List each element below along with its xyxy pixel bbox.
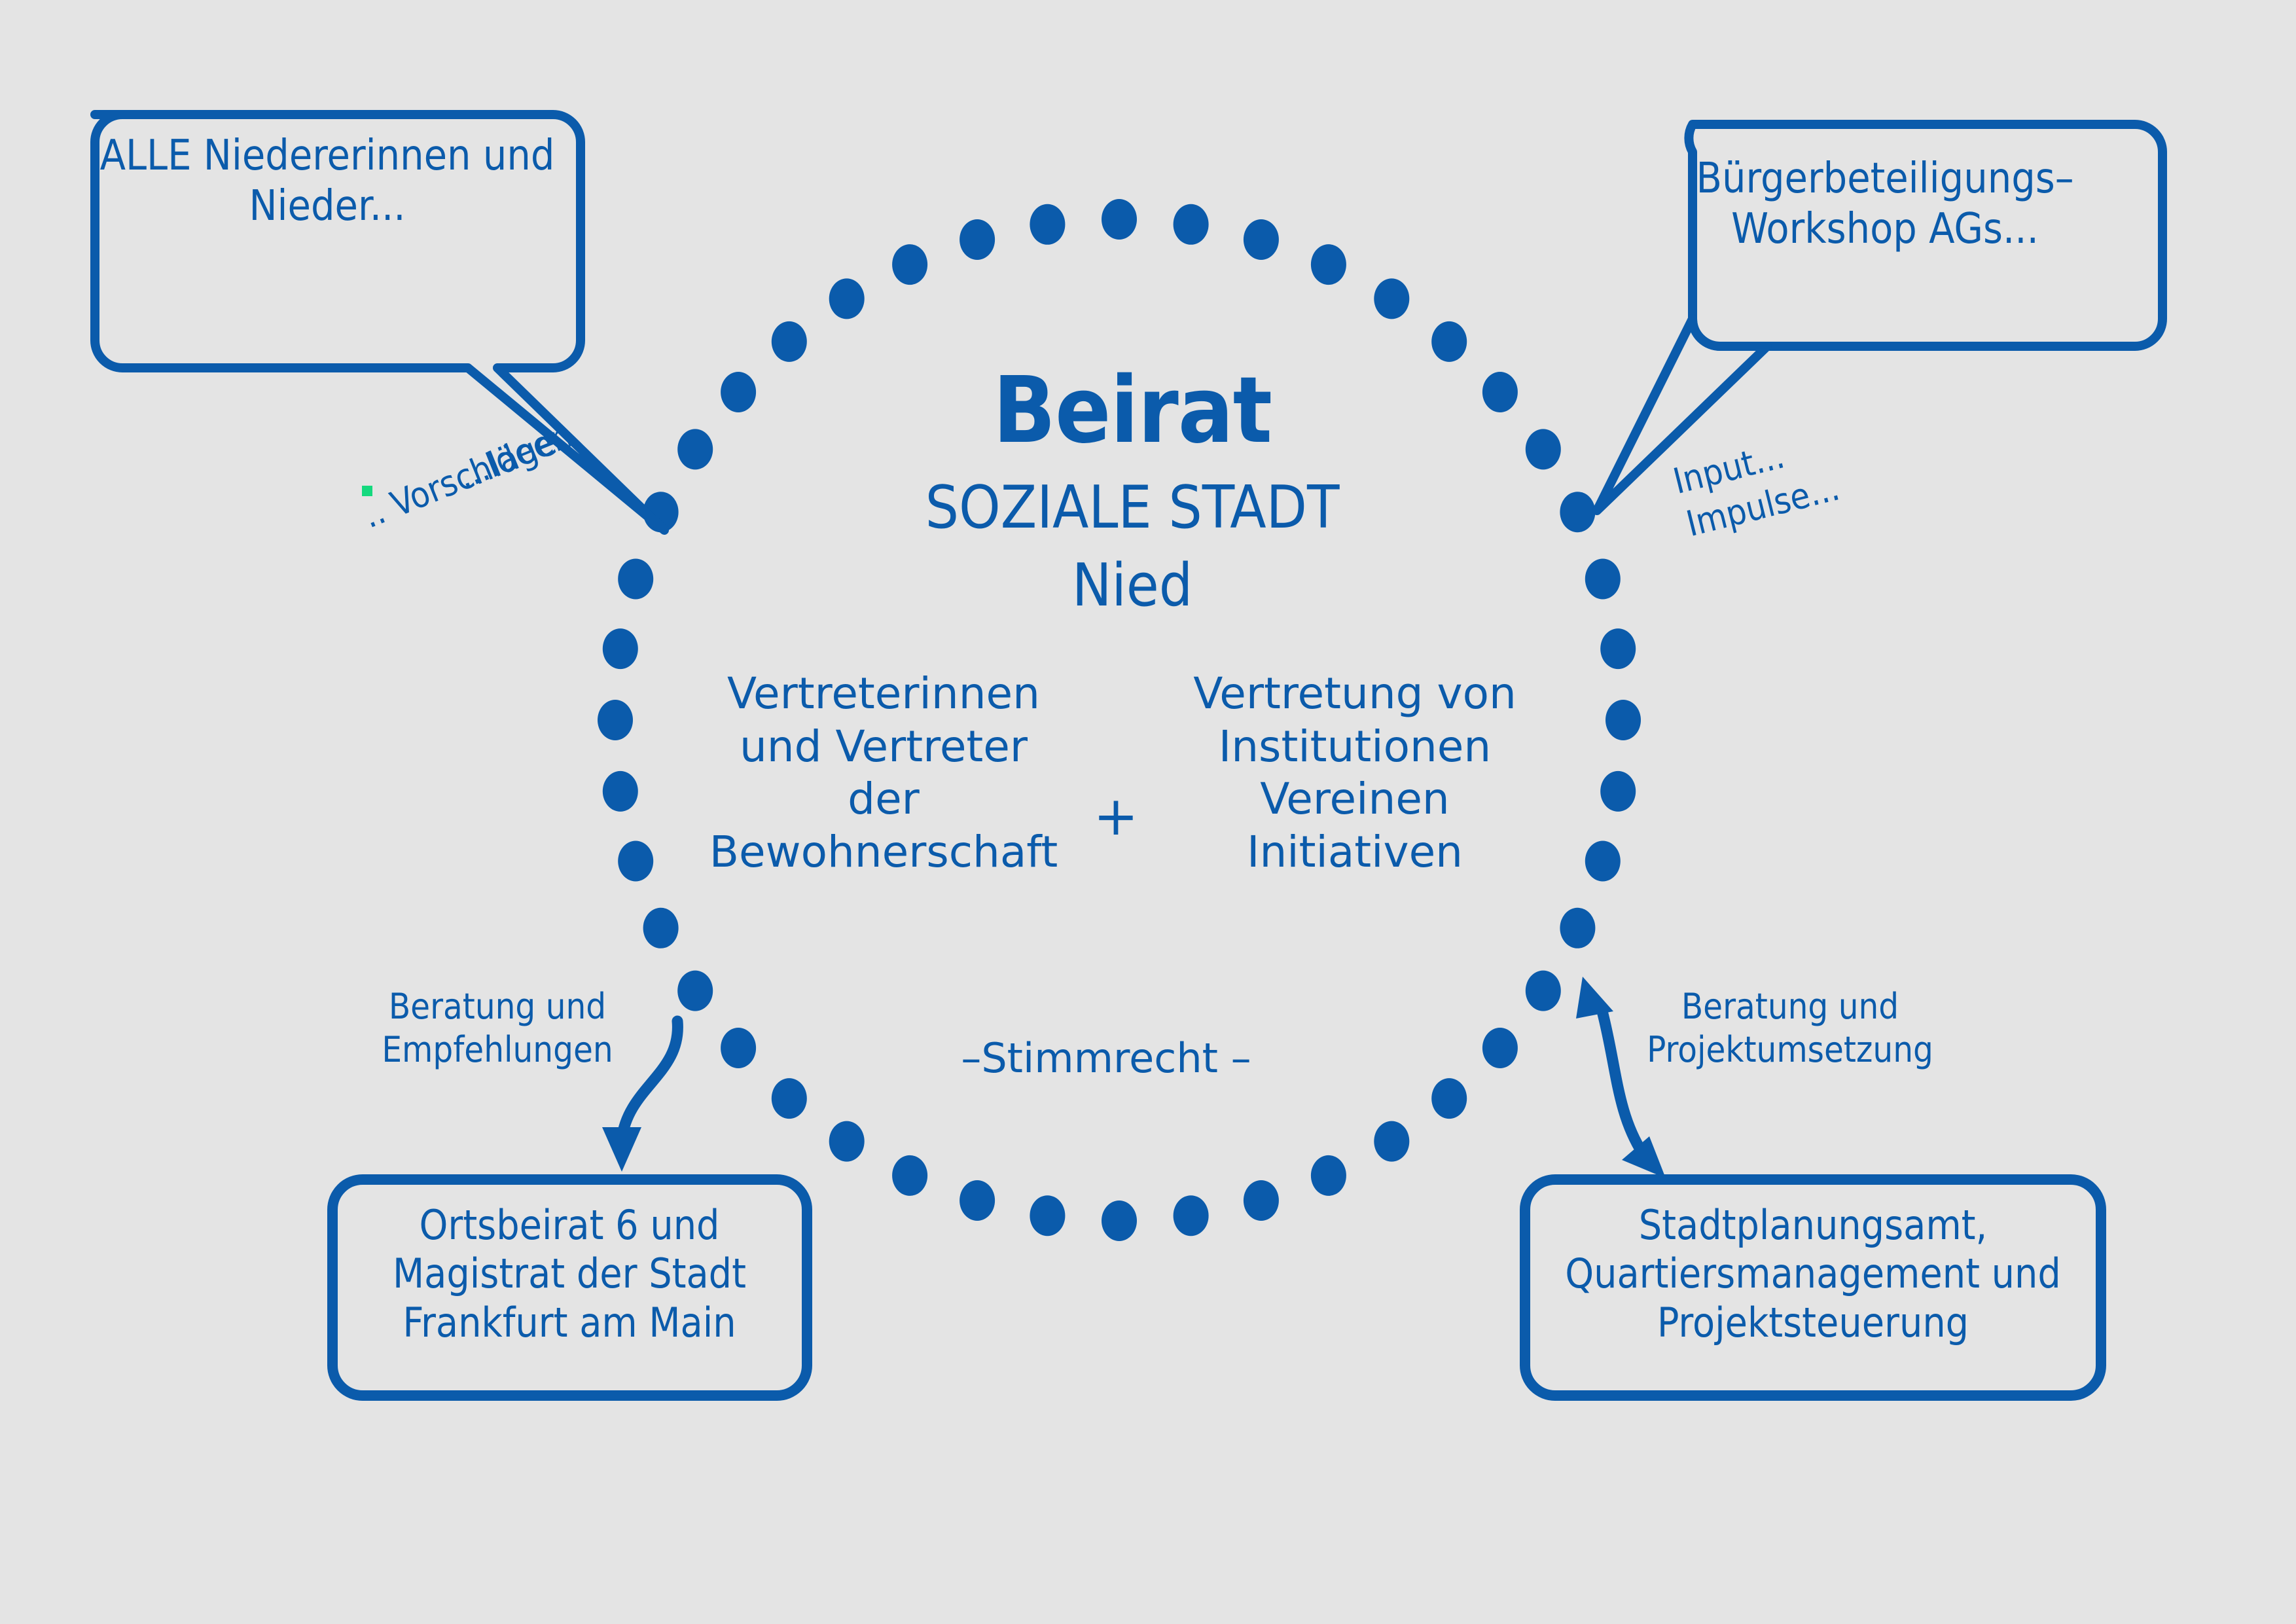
circle-dot bbox=[618, 559, 653, 600]
box-bottom-left-label: Ortsbeirat 6 und Magistrat der Stadt Fra… bbox=[340, 1201, 798, 1347]
circle-dot bbox=[1311, 1155, 1346, 1196]
circle-dot bbox=[1526, 429, 1561, 469]
box-bottom-right-label: Stadtplanungsamt, Quartiersmanagement un… bbox=[1538, 1201, 2088, 1347]
plus-sign: + bbox=[1083, 785, 1149, 848]
circle-dot bbox=[598, 700, 633, 740]
circle-dot bbox=[1030, 204, 1065, 245]
circle-dot bbox=[721, 1028, 756, 1068]
circle-dot bbox=[1585, 841, 1621, 882]
circle-dot bbox=[1374, 278, 1409, 319]
circle-dot bbox=[1600, 771, 1636, 812]
circle-dot bbox=[603, 628, 638, 669]
circle-dot bbox=[1600, 628, 1636, 669]
circle-dot bbox=[1244, 219, 1279, 260]
circle-dot bbox=[1244, 1180, 1279, 1221]
circle-dot bbox=[829, 278, 865, 319]
circle-dot bbox=[618, 841, 653, 882]
circle-dot bbox=[1374, 1121, 1409, 1162]
circle-dot bbox=[892, 244, 927, 285]
circle-dot bbox=[1311, 244, 1346, 285]
circle-dot bbox=[677, 971, 713, 1011]
circle-dot bbox=[1431, 1078, 1467, 1119]
bubble-top-left-label: ALLE Niedererinnen und Nieder... bbox=[98, 131, 556, 232]
circle-dot bbox=[1585, 559, 1621, 600]
circle-dot bbox=[643, 908, 679, 948]
circle-dot bbox=[677, 429, 713, 469]
circle-dot bbox=[1174, 204, 1209, 245]
circle-dot bbox=[1102, 199, 1137, 240]
circle-dot bbox=[1560, 908, 1595, 948]
circle-dot bbox=[960, 219, 995, 260]
circle-dot bbox=[1560, 492, 1595, 532]
circle-dot bbox=[892, 1155, 927, 1196]
circle-dot bbox=[603, 771, 638, 812]
circle-dot bbox=[1102, 1200, 1137, 1241]
circle-dot bbox=[1605, 700, 1641, 740]
circle-dot bbox=[960, 1180, 995, 1221]
center-subtitle: SOZIALE STADT bbox=[772, 475, 1492, 541]
circle-dot bbox=[1030, 1195, 1065, 1236]
circle-dot bbox=[1526, 971, 1561, 1011]
center-column-right: Vertretung von Institutionen Vereinen In… bbox=[1191, 668, 1518, 878]
diagram-canvas: ALLE Niedererinnen und Nieder... Bürgerb… bbox=[0, 0, 2296, 1624]
circle-dot bbox=[1482, 1028, 1518, 1068]
center-title-block: Beirat SOZIALE STADT Nied bbox=[772, 353, 1492, 630]
annotation-beratung-empfehlungen: Beratung und Empfehlungen bbox=[367, 985, 628, 1072]
center-column-left: Vertreterinnen und Vertreter der Bewohne… bbox=[700, 668, 1067, 878]
circle-dot bbox=[829, 1121, 865, 1162]
bubble-top-right-label: Bürgerbeteiligungs– Workshop AGs... bbox=[1656, 154, 2114, 255]
circle-dot bbox=[1174, 1195, 1209, 1236]
voting-rights-note: –Stimmrecht – bbox=[903, 1034, 1309, 1082]
circle-dot bbox=[721, 372, 756, 412]
circle-dot bbox=[772, 1078, 807, 1119]
page-title: Beirat bbox=[772, 365, 1492, 457]
center-place: Nied bbox=[772, 553, 1492, 619]
annotation-beratung-projektumsetzung: Beratung und Projektumsetzung bbox=[1626, 985, 1954, 1072]
